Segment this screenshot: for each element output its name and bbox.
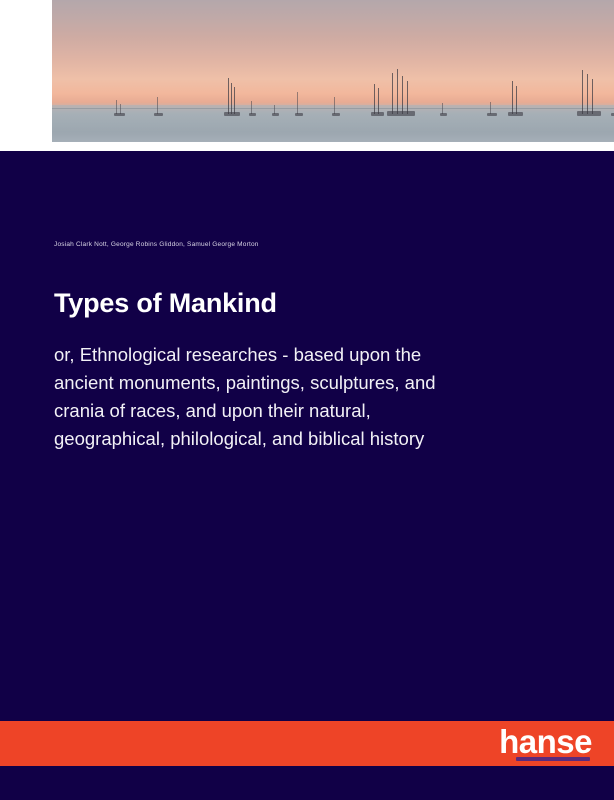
- subtitle-line: geographical, philological, and biblical…: [54, 425, 576, 453]
- book-cover: Josiah Clark Nott, George Robins Gliddon…: [0, 0, 614, 800]
- cover-body: [0, 151, 614, 800]
- subtitle-line: or, Ethnological researches - based upon…: [54, 341, 576, 369]
- publisher-logo-underline: [516, 757, 590, 761]
- photo-bottom-fade: [52, 132, 614, 142]
- book-subtitle: or, Ethnological researches - based upon…: [54, 341, 576, 453]
- sunset-seascape-image: [52, 0, 614, 142]
- author-line: Josiah Clark Nott, George Robins Gliddon…: [54, 241, 554, 248]
- book-title: Types of Mankind: [54, 289, 574, 319]
- cover-photo: [52, 0, 614, 142]
- subtitle-line: crania of races, and upon their natural,: [54, 397, 576, 425]
- subtitle-line: ancient monuments, paintings, sculptures…: [54, 369, 576, 397]
- horizon-line: [52, 108, 614, 109]
